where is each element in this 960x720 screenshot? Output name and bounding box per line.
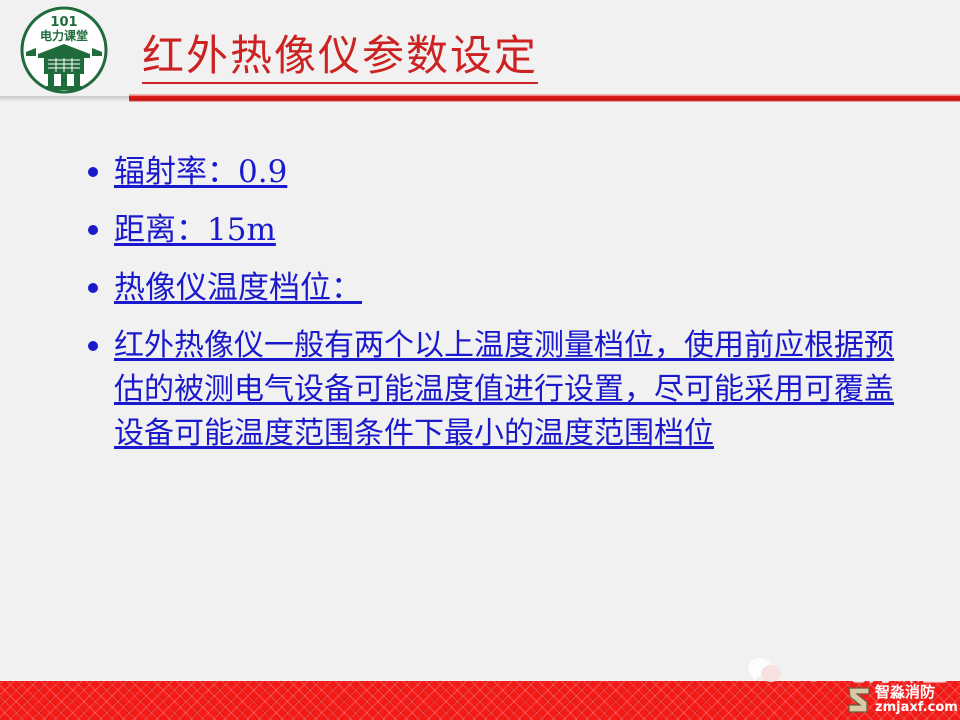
list-item-label: 红外热像仪一般有两个以上温度测量档位，使用前应根据预估的被测电气设备可能温度值进… bbox=[114, 324, 908, 456]
bullet-list: 辐射率：0.9 距离：15m 热像仪温度档位： 红外热像仪一般有两个以上温度测量… bbox=[88, 150, 908, 470]
bullet-dot-icon bbox=[88, 225, 98, 235]
slide-header: 101 电力课堂 bbox=[0, 0, 960, 108]
slide-canvas: 101 电力课堂 bbox=[0, 0, 960, 720]
list-item-label: 辐射率：0.9 bbox=[114, 150, 908, 194]
list-item-label: 距离：15m bbox=[114, 208, 908, 252]
page-title: 红外热像仪参数设定 bbox=[142, 34, 538, 84]
list-item-label: 热像仪温度档位： bbox=[114, 266, 908, 310]
organization-logo: 101 电力课堂 bbox=[12, 4, 116, 96]
header-divider-gray bbox=[0, 96, 129, 101]
header-divider-red bbox=[129, 94, 960, 102]
list-item: 热像仪温度档位： bbox=[88, 266, 908, 310]
brand-emblem-icon bbox=[845, 685, 873, 715]
brand-logo: 智淼消防 zmjaxf.com bbox=[845, 680, 957, 720]
list-item: 距离：15m bbox=[88, 208, 908, 252]
svg-text:101: 101 bbox=[50, 15, 77, 30]
brand-url: zmjaxf.com bbox=[875, 701, 958, 715]
brand-text-group: 智淼消防 zmjaxf.com bbox=[875, 685, 958, 715]
wechat-icon bbox=[748, 656, 782, 684]
bullet-dot-icon bbox=[88, 341, 98, 351]
list-item: 红外热像仪一般有两个以上温度测量档位，使用前应根据预估的被测电气设备可能温度值进… bbox=[88, 324, 908, 456]
bullet-dot-icon bbox=[88, 167, 98, 177]
svg-text:电力课堂: 电力课堂 bbox=[40, 28, 88, 43]
brand-name: 智淼消防 bbox=[875, 685, 958, 701]
bullet-dot-icon bbox=[88, 283, 98, 293]
list-item: 辐射率：0.9 bbox=[88, 150, 908, 194]
